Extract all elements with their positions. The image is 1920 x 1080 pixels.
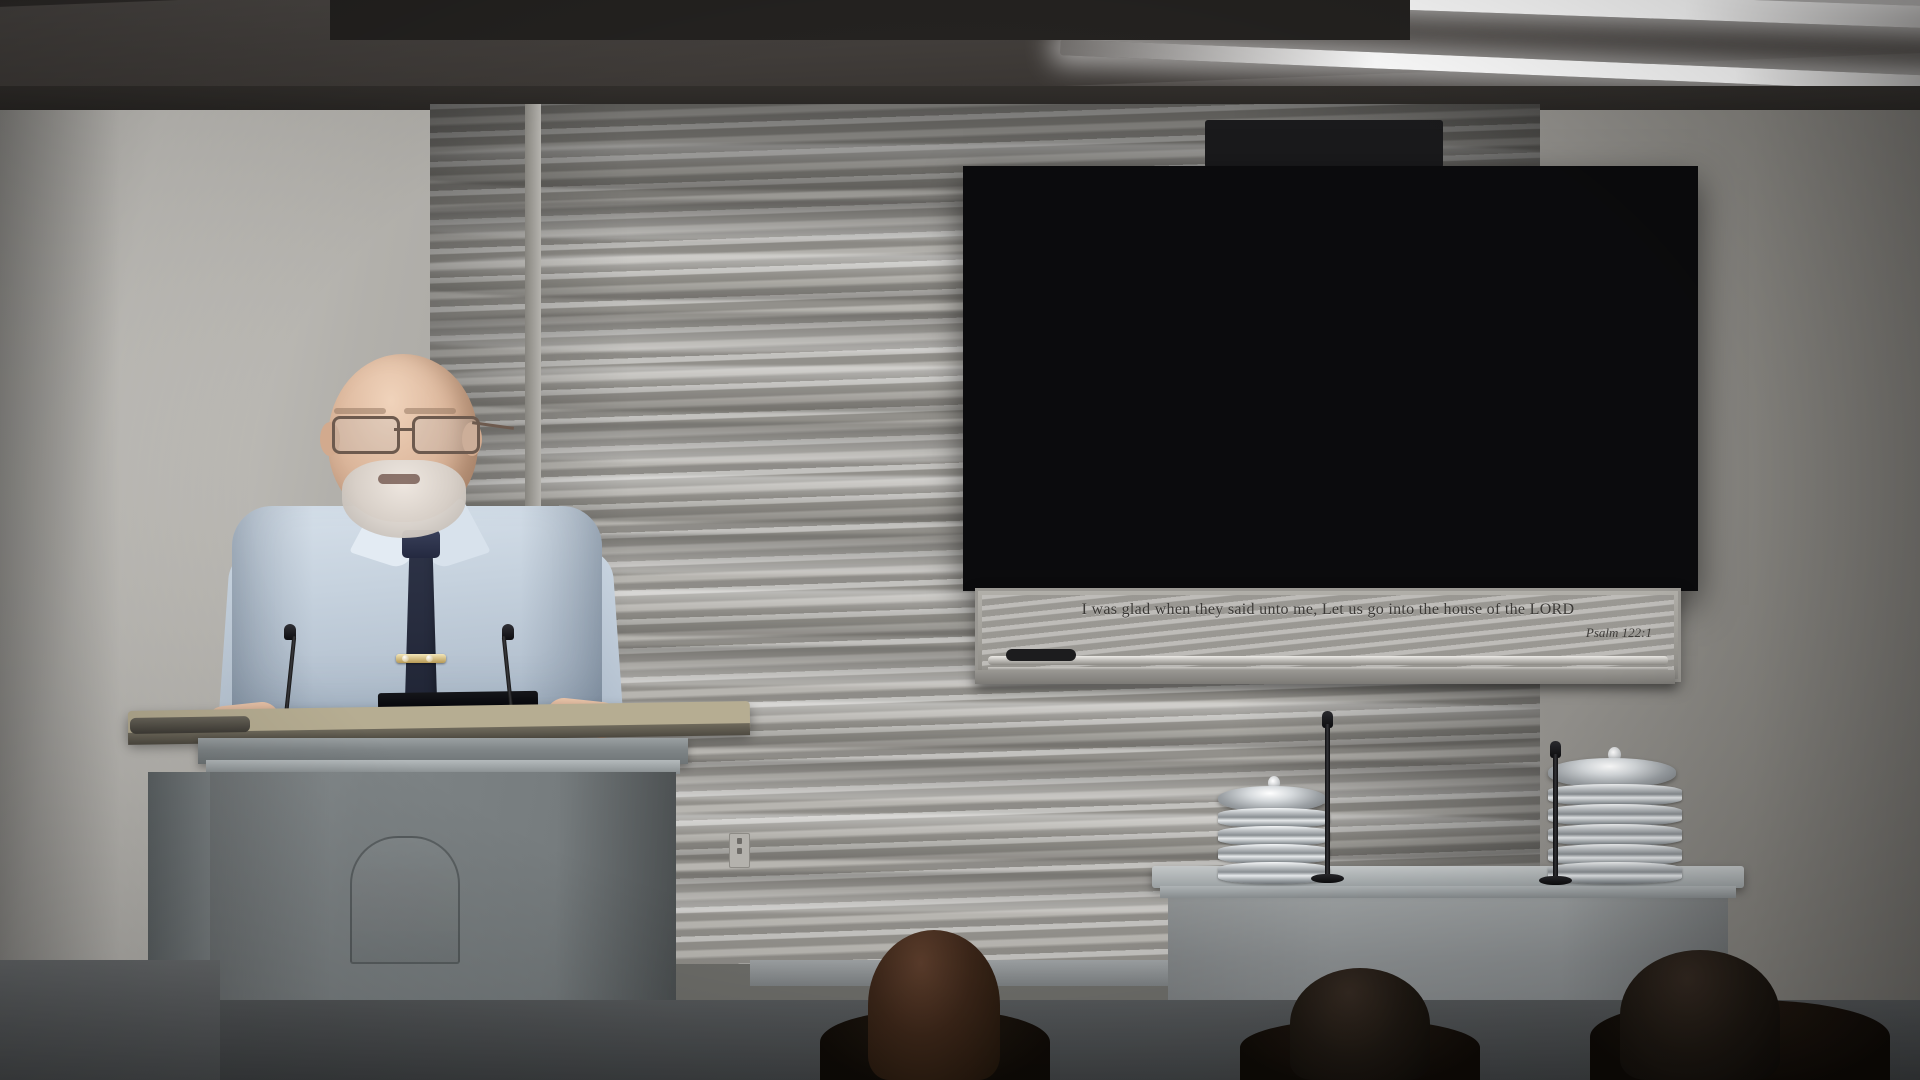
video-frame: The Bible: The Only Authority Hebrews 1:… [0, 0, 1920, 1080]
floor-left-area [0, 960, 220, 1080]
screen-mount-bracket [1205, 120, 1443, 168]
eyebrow-left [334, 408, 386, 414]
shelf-rail [988, 656, 1668, 665]
tie-clip [396, 654, 446, 663]
ceiling-soffit [330, 0, 1410, 40]
audience-head-right [1620, 950, 1780, 1080]
audience-head-center [1290, 968, 1430, 1080]
eyeglass-lens-left [332, 416, 400, 454]
communion-tray [1548, 824, 1682, 846]
wall-outlet [729, 833, 750, 868]
eyeglass-lens-right [412, 416, 480, 454]
eyeglass-bridge [394, 428, 412, 431]
presentation-screen[interactable]: The Bible: The Only Authority Hebrews 1:… [963, 166, 1698, 591]
preacher [250, 354, 580, 734]
communion-tray [1218, 844, 1330, 864]
beard [342, 460, 466, 538]
plaque-reference: Psalm 122:1 [1586, 625, 1652, 641]
psalm-wall-plaque: I was glad when they said unto me, Let u… [975, 588, 1681, 682]
audience-head-left [868, 930, 1000, 1080]
communion-tray [1548, 784, 1682, 806]
plaque-quote: I was glad when they said unto me, Let u… [978, 601, 1678, 619]
shelf-base [975, 670, 1675, 684]
eyebrow-right [404, 408, 456, 414]
pulpit-arched-panel [350, 836, 460, 964]
communion-tray [1218, 808, 1330, 828]
left-wall-shadow [0, 110, 120, 1080]
communion-tray [1218, 826, 1330, 846]
presentation-remote[interactable] [1006, 649, 1076, 661]
pulpit-book-lip [130, 716, 250, 734]
communion-tray [1548, 804, 1682, 826]
eyeglasses [324, 416, 486, 450]
mouth [378, 474, 420, 484]
communion-tray-stack-right [1548, 758, 1678, 886]
